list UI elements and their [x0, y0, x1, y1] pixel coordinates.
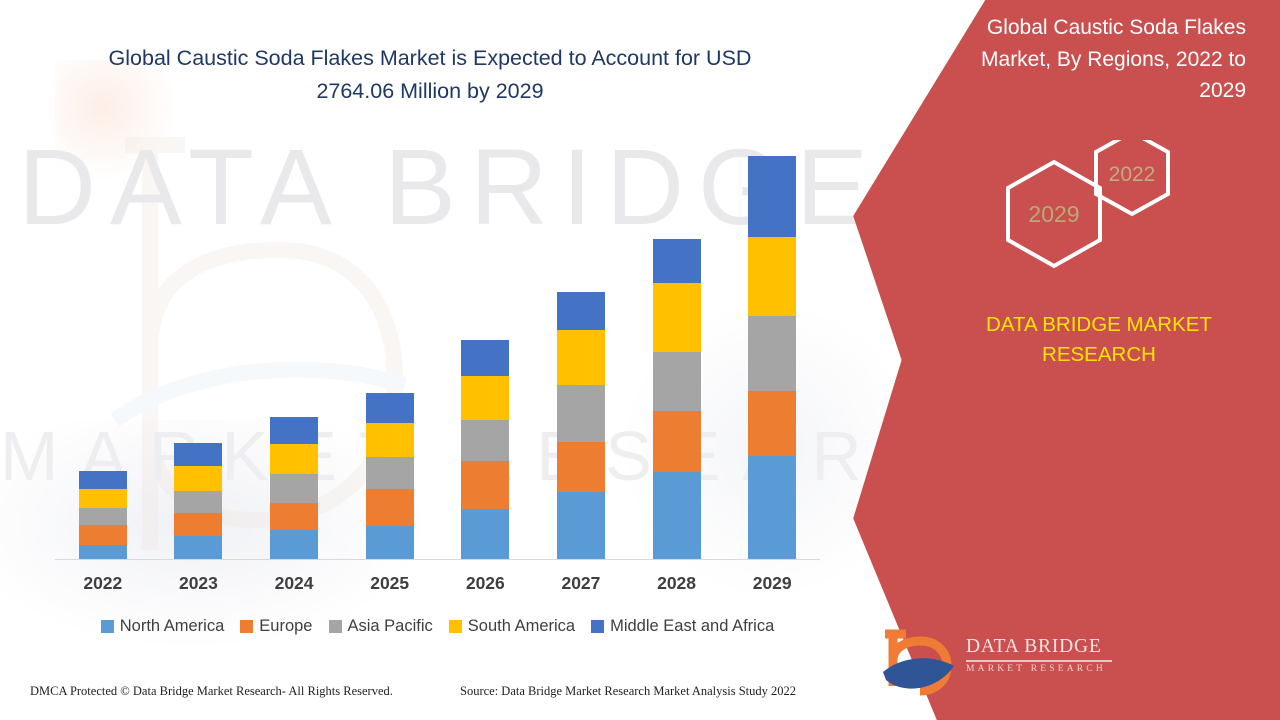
bar-segment[interactable] — [366, 457, 414, 489]
bar-segment[interactable] — [557, 292, 605, 330]
hexagon-label-2022: 2022 — [1109, 163, 1156, 186]
bar-segment[interactable] — [557, 492, 605, 559]
x-axis-tick-label: 2025 — [342, 573, 438, 594]
legend-item[interactable]: South America — [449, 617, 575, 636]
brand-name: DATA BRIDGE MARKET RESEARCH — [954, 310, 1244, 369]
legend-label: Middle East and Africa — [610, 617, 774, 636]
bar-segment[interactable] — [270, 417, 318, 444]
legend-label: North America — [120, 617, 225, 636]
stacked-bar[interactable] — [79, 471, 127, 559]
logo-sub-text: MARKET RESEARCH — [966, 664, 1116, 674]
x-axis-tick-label: 2029 — [724, 573, 820, 594]
hexagon-badges: 2029 2022 — [956, 140, 1246, 320]
bar-segment[interactable] — [557, 330, 605, 385]
legend-label: Europe — [259, 617, 312, 636]
x-axis-tick-labels: 20222023202420252026202720282029 — [55, 573, 820, 594]
legend-item[interactable]: North America — [101, 617, 225, 636]
bar-segment[interactable] — [748, 156, 796, 237]
x-axis-tick-label: 2028 — [629, 573, 725, 594]
logo-wordmark: DATA BRIDGE MARKET RESEARCH — [966, 636, 1116, 674]
bar-segment[interactable] — [366, 489, 414, 526]
bar-segment[interactable] — [79, 545, 127, 559]
data-bridge-b-logo-icon — [880, 628, 958, 700]
legend-item[interactable]: Middle East and Africa — [591, 617, 774, 636]
logo-main-text: DATA BRIDGE — [966, 636, 1116, 658]
bar-segment[interactable] — [653, 411, 701, 471]
bar-group — [629, 150, 725, 559]
stacked-bar[interactable] — [174, 443, 222, 559]
x-axis-tick-label: 2023 — [151, 573, 247, 594]
bar-segment[interactable] — [79, 508, 127, 524]
chart-infographic: DATA BRIDGE MARKET RESEARCH Global Caust… — [0, 0, 1280, 720]
bar-segment[interactable] — [174, 536, 222, 559]
bar-group — [342, 150, 438, 559]
stacked-bar[interactable] — [366, 393, 414, 559]
bar-segment[interactable] — [270, 530, 318, 559]
legend-swatch-icon — [329, 620, 342, 633]
stacked-bar[interactable] — [557, 292, 605, 559]
logo-block: DATA BRIDGE MARKET RESEARCH — [880, 622, 1110, 702]
legend-item[interactable]: Europe — [240, 617, 312, 636]
x-axis-tick-label: 2026 — [438, 573, 534, 594]
bar-segment[interactable] — [79, 471, 127, 489]
bar-segment[interactable] — [174, 466, 222, 491]
bar-segment[interactable] — [748, 391, 796, 456]
legend-swatch-icon — [101, 620, 114, 633]
x-axis-tick-label: 2027 — [533, 573, 629, 594]
bar-group — [724, 150, 820, 559]
bar-segment[interactable] — [653, 352, 701, 411]
bar-group — [246, 150, 342, 559]
footer-source: Source: Data Bridge Market Research Mark… — [460, 684, 796, 699]
right-side-panel: Global Caustic Soda Flakes Market, By Re… — [840, 0, 1280, 720]
bar-group — [438, 150, 534, 559]
x-axis-tick-label: 2022 — [55, 573, 151, 594]
bar-segment[interactable] — [748, 456, 796, 559]
stacked-bar[interactable] — [653, 239, 701, 559]
legend-label: South America — [468, 617, 575, 636]
legend-item[interactable]: Asia Pacific — [329, 617, 433, 636]
bar-segment[interactable] — [653, 472, 701, 559]
legend-swatch-icon — [591, 620, 604, 633]
bar-group — [55, 150, 151, 559]
bar-segment[interactable] — [174, 513, 222, 537]
stacked-bar[interactable] — [461, 340, 509, 559]
bar-segment[interactable] — [461, 376, 509, 420]
bar-segment[interactable] — [557, 385, 605, 442]
bar-segment[interactable] — [174, 491, 222, 513]
bar-segment[interactable] — [461, 461, 509, 510]
legend-swatch-icon — [240, 620, 253, 633]
chart-legend: North AmericaEuropeAsia PacificSouth Ame… — [55, 617, 820, 636]
bar-segment[interactable] — [461, 340, 509, 376]
x-axis-tick-label: 2024 — [246, 573, 342, 594]
bar-segment[interactable] — [653, 239, 701, 283]
panel-title: Global Caustic Soda Flakes Market, By Re… — [966, 12, 1246, 107]
bar-segment[interactable] — [653, 283, 701, 352]
bar-series-container — [55, 150, 820, 559]
plot-area — [55, 150, 820, 560]
footer-copyright: DMCA Protected © Data Bridge Market Rese… — [30, 684, 393, 699]
hexagon-label-2029: 2029 — [1028, 201, 1079, 227]
bar-segment[interactable] — [366, 393, 414, 423]
bar-segment[interactable] — [79, 489, 127, 508]
stacked-bar[interactable] — [748, 156, 796, 559]
bar-segment[interactable] — [748, 237, 796, 316]
bar-segment[interactable] — [461, 509, 509, 559]
bar-segment[interactable] — [270, 444, 318, 474]
bar-segment[interactable] — [270, 474, 318, 503]
legend-label: Asia Pacific — [348, 617, 433, 636]
x-axis-line — [55, 559, 820, 560]
bar-segment[interactable] — [79, 525, 127, 545]
bar-segment[interactable] — [270, 503, 318, 530]
bar-segment[interactable] — [748, 316, 796, 391]
chart-title: Global Caustic Soda Flakes Market is Exp… — [70, 42, 790, 107]
bar-segment[interactable] — [174, 443, 222, 467]
stacked-bar[interactable] — [270, 417, 318, 559]
bar-segment[interactable] — [461, 420, 509, 461]
logo-divider — [966, 660, 1112, 662]
bar-segment[interactable] — [557, 442, 605, 493]
bar-group — [151, 150, 247, 559]
bar-segment[interactable] — [366, 423, 414, 456]
bar-group — [533, 150, 629, 559]
legend-swatch-icon — [449, 620, 462, 633]
bar-segment[interactable] — [366, 526, 414, 559]
